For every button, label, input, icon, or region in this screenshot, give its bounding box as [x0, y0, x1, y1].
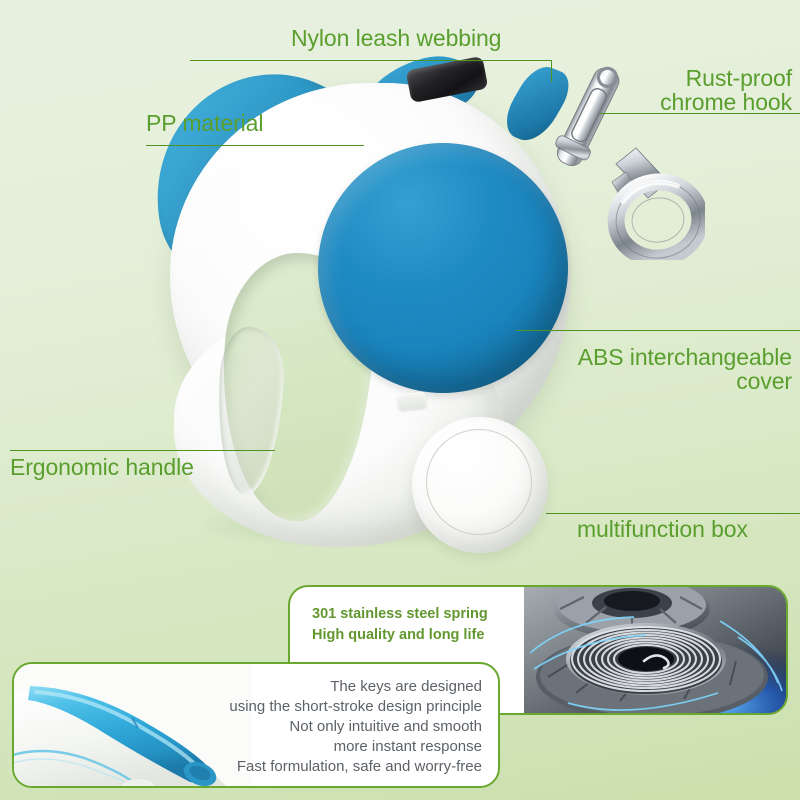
keys-panel-text: The keys are designed using the short-st…	[229, 677, 482, 777]
callout-nylon-leash-webbing: Nylon leash webbing	[291, 26, 501, 50]
callout-multifunction-box: multifunction box	[577, 517, 748, 541]
callout-ergonomic-handle: Ergonomic handle	[10, 455, 194, 479]
leader-rust-proof-chrome-hook	[600, 113, 800, 114]
blue-brake-lever-photo	[14, 664, 252, 786]
spring-mechanism-photo	[524, 587, 786, 713]
callout-abs-interchangeable-cover: ABS interchangeable cover	[462, 345, 792, 394]
pod-latch-detail	[397, 392, 427, 411]
multifunction-box-pod	[412, 417, 548, 553]
infographic-canvas: Nylon leash webbing Rust-proof chrome ho…	[0, 0, 800, 800]
leader-multifunction-box	[546, 513, 800, 514]
leader-abs-interchangeable-cover	[516, 330, 800, 331]
leader-pp-material	[146, 145, 364, 146]
callout-pp-material: PP material	[146, 111, 263, 135]
leader-nylon-leash-webbing	[190, 60, 551, 61]
callout-rust-proof-chrome-hook: Rust-proof chrome hook	[492, 66, 792, 115]
leader-ergonomic-handle	[10, 450, 275, 451]
spring-panel-text: 301 stainless steel spring High quality …	[312, 604, 488, 645]
panel-key-design: The keys are designed using the short-st…	[12, 662, 500, 788]
